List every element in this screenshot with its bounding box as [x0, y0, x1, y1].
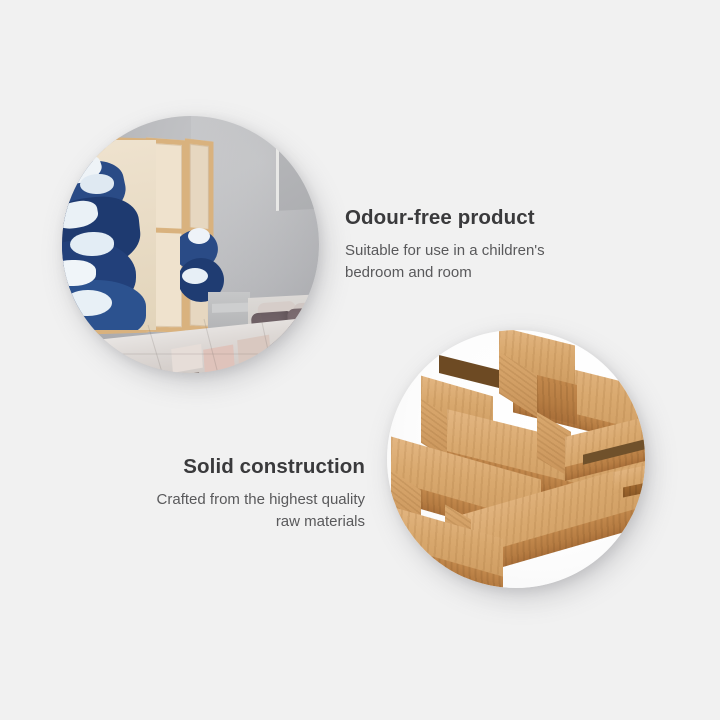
- feature-body-line: raw materials: [100, 511, 365, 533]
- wave-foam: [70, 232, 114, 256]
- feature-text-solid-construction: Solid construction Crafted from the high…: [100, 455, 365, 533]
- feature-graphic-canvas: Odour-free product Suitable for use in a…: [0, 0, 720, 720]
- feature-body-line: Crafted from the highest quality: [100, 489, 365, 511]
- bedroom-photo: [62, 116, 319, 373]
- wave-foam: [80, 174, 114, 194]
- wave-foam: [182, 268, 208, 284]
- feature-heading: Odour-free product: [345, 206, 595, 231]
- great-wave-artwork: [62, 140, 156, 330]
- bedroom-photo-circle: [62, 116, 319, 373]
- feature-body-line: Suitable for use in a children's: [345, 240, 595, 262]
- timber-photo: [387, 330, 645, 588]
- wall-picture-frame: [276, 144, 319, 211]
- feature-heading: Solid construction: [100, 455, 365, 480]
- feature-body-line: bedroom and room: [345, 262, 595, 284]
- wave-foam: [64, 290, 112, 316]
- feature-text-odour-free: Odour-free product Suitable for use in a…: [345, 206, 595, 284]
- wave-foam: [188, 228, 210, 244]
- timber-photo-circle: [387, 330, 645, 588]
